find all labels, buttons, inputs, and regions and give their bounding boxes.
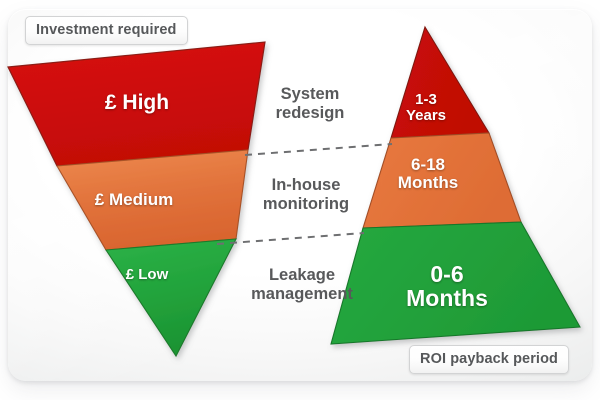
left-band-low[interactable] [106,239,236,356]
divider-line-bottom [217,233,364,244]
infographic-root: £ High £ Medium £ Low 1-3 Years 6-18 Mon… [0,0,600,400]
left-band-medium[interactable] [57,150,248,250]
right-band-years[interactable] [391,27,489,138]
investment-required-tag[interactable]: Investment required [25,16,188,45]
left-pyramid-group [8,42,265,356]
roi-payback-period-tag[interactable]: ROI payback period [409,345,569,374]
left-band-high[interactable] [8,42,265,166]
right-pyramid-group [331,27,580,344]
pyramids-stage [0,0,600,400]
right-band-months-low[interactable] [331,222,580,344]
right-band-months-mid[interactable] [363,133,521,228]
divider-line-top [245,144,392,155]
